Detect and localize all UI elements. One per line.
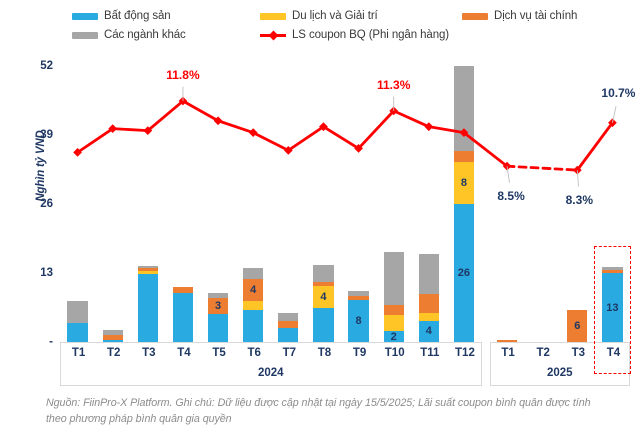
bar-segment <box>278 313 298 321</box>
legend-row-2: Các ngành khác LS coupon BQ (Phi ngân hà… <box>72 29 632 41</box>
bar-segment <box>384 315 404 331</box>
bar-segment <box>243 310 263 342</box>
stacked-bar: 4 <box>243 268 263 342</box>
bar-value-label: 4 <box>243 284 263 296</box>
bar-column[interactable]: 4 <box>419 66 439 342</box>
bar-column[interactable]: 3 <box>208 66 228 342</box>
y-tick-52: 52 <box>40 60 53 72</box>
bar-column[interactable]: 4 <box>313 66 333 342</box>
bar-segment <box>173 287 193 293</box>
footnote: Nguồn: FiinPro-X Platform. Ghi chú: Dữ l… <box>46 396 612 427</box>
bar-value-label: 8 <box>454 177 474 189</box>
bar-column[interactable]: 4 <box>243 66 263 342</box>
bar-segment <box>278 321 298 328</box>
bar-segment <box>313 308 333 343</box>
stacked-bar <box>278 313 298 342</box>
x-tick-label[interactable]: T3 <box>142 347 155 359</box>
bar-value-label: 6 <box>567 320 587 332</box>
x-axis: T1T2T3T4T5T6T7T8T9T10T11T122024T1T2T3T42… <box>60 342 630 386</box>
bar-segment <box>348 296 368 300</box>
chart-root: Bất động sản Du lịch và Giải trí Dịch vụ… <box>0 0 640 442</box>
legend-swatch-yellow-icon <box>260 13 286 20</box>
stacked-bar: 4 <box>419 254 439 342</box>
x-tick-label[interactable]: T3 <box>572 347 585 359</box>
x-tick-label[interactable]: T10 <box>385 347 405 359</box>
x-tick-label[interactable]: T8 <box>318 347 331 359</box>
legend-label-ls-coupon: LS coupon BQ (Phi ngân hàng) <box>292 29 449 41</box>
stacked-bar <box>67 301 87 342</box>
legend-item-du-lich-giai-tri[interactable]: Du lịch và Giải trí <box>260 10 462 22</box>
x-tick-label[interactable]: T5 <box>212 347 225 359</box>
stacked-bar <box>173 287 193 342</box>
bar-value-label: 3 <box>208 300 228 312</box>
bar-segment <box>454 151 474 162</box>
bar-column[interactable] <box>103 66 123 342</box>
stacked-bar: 4 <box>313 265 333 342</box>
bar-column[interactable] <box>532 66 552 342</box>
bar-segment <box>419 294 439 313</box>
bar-value-label: 4 <box>419 325 439 337</box>
line-point-label: 8.3% <box>566 193 593 207</box>
legend-swatch-gray-icon <box>72 32 98 39</box>
x-tick-label[interactable]: T7 <box>283 347 296 359</box>
stacked-bar: 268 <box>454 66 474 342</box>
bar-segment <box>208 314 228 342</box>
bar-segment <box>454 66 474 151</box>
line-point-label: 10.7% <box>601 86 635 100</box>
legend-swatch-orange-icon <box>462 13 488 20</box>
bar-column[interactable] <box>497 66 517 342</box>
bar-segment <box>103 335 123 340</box>
legend-label-du-lich-giai-tri: Du lịch và Giải trí <box>292 10 378 22</box>
y-tick-13: 13 <box>40 267 53 279</box>
bar-segment <box>138 266 158 269</box>
y-tick-39: 39 <box>40 129 53 141</box>
legend-label-cac-nganh-khac: Các ngành khác <box>104 29 186 41</box>
stacked-bar: 8 <box>348 291 368 342</box>
bar-segment <box>278 328 298 342</box>
bar-segment <box>173 293 193 342</box>
stacked-bar <box>138 266 158 342</box>
legend-line-red-icon <box>260 30 286 40</box>
plot-area: 52392613- 344824268613 11.8%11.3%8.5%8.3… <box>60 66 630 342</box>
bar-column[interactable] <box>173 66 193 342</box>
y-tick--: - <box>49 336 53 348</box>
legend-row-1: Bất động sản Du lịch và Giải trí Dịch vụ… <box>72 10 632 22</box>
x-tick-label[interactable]: T1 <box>501 347 514 359</box>
bar-value-label: 4 <box>313 291 333 303</box>
x-tick-label[interactable]: T2 <box>107 347 120 359</box>
stacked-bar: 6 <box>567 310 587 342</box>
y-tick-26: 26 <box>40 198 53 210</box>
bar-segment <box>138 271 158 274</box>
bar-column[interactable]: 268 <box>454 66 474 342</box>
legend-item-dich-vu-tai-chinh[interactable]: Dịch vụ tài chính <box>462 10 577 22</box>
legend-item-bat-dong-san[interactable]: Bất động sản <box>72 10 260 22</box>
x-tick-label[interactable]: T4 <box>177 347 190 359</box>
bar-segment <box>348 291 368 296</box>
legend-label-bat-dong-san: Bất động sản <box>104 10 171 22</box>
highlight-box-2025-t4 <box>594 246 631 374</box>
legend-item-cac-nganh-khac[interactable]: Các ngành khác <box>72 29 260 41</box>
x-axis-group-2024: T1T2T3T4T5T6T7T8T9T10T11T122024 <box>60 342 482 386</box>
x-axis-year-label: 2024 <box>61 367 481 379</box>
stacked-bar <box>103 330 123 342</box>
bar-segment <box>243 301 263 311</box>
bar-column[interactable] <box>67 66 87 342</box>
x-tick-label[interactable]: T11 <box>420 347 439 359</box>
line-point-label: 11.8% <box>166 68 199 82</box>
bar-segment <box>67 301 87 324</box>
bar-value-label: 2 <box>384 331 404 343</box>
x-tick-label[interactable]: T1 <box>72 347 85 359</box>
bar-segment <box>103 330 123 335</box>
bar-value-label: 8 <box>348 315 368 327</box>
legend-label-dich-vu-tai-chinh: Dịch vụ tài chính <box>494 10 577 22</box>
line-point-label: 8.5% <box>497 189 524 203</box>
x-tick-label[interactable]: T9 <box>353 347 366 359</box>
stacked-bar: 2 <box>384 252 404 342</box>
chart-legend: Bất động sản Du lịch và Giải trí Dịch vụ… <box>72 10 632 48</box>
bar-column[interactable]: 8 <box>348 66 368 342</box>
bar-segment <box>313 282 333 286</box>
x-tick-label[interactable]: T6 <box>247 347 260 359</box>
bar-segment <box>67 323 87 342</box>
bar-segment <box>243 268 263 280</box>
bar-segment <box>419 313 439 321</box>
bar-column[interactable] <box>138 66 158 342</box>
bar-value-label: 26 <box>454 267 474 279</box>
x-tick-label[interactable]: T2 <box>536 347 549 359</box>
bar-segment <box>208 293 228 298</box>
stacked-bar: 3 <box>208 293 228 342</box>
bar-column[interactable]: 2 <box>384 66 404 342</box>
x-tick-label[interactable]: T12 <box>455 347 475 359</box>
line-point-label: 11.3% <box>377 78 410 92</box>
bar-segment <box>138 274 158 342</box>
legend-swatch-blue-icon <box>72 13 98 20</box>
bar-segment <box>313 265 333 282</box>
bar-segment <box>384 252 404 305</box>
bar-segment <box>384 305 404 316</box>
bar-segment <box>419 254 439 294</box>
bar-segment <box>138 268 158 271</box>
bar-column[interactable] <box>278 66 298 342</box>
legend-item-ls-coupon[interactable]: LS coupon BQ (Phi ngân hàng) <box>260 29 462 41</box>
bar-series-container: 344824268613 <box>60 66 630 342</box>
